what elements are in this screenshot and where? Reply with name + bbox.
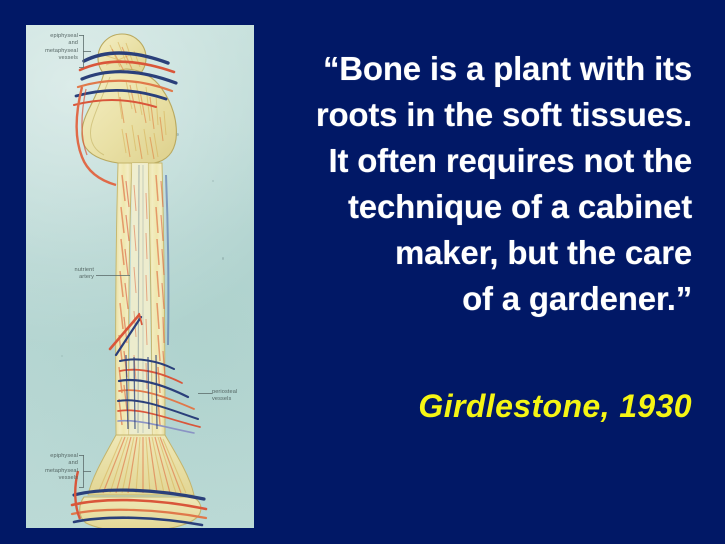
label-leader-periosteal-vessels: [198, 393, 212, 394]
periosteal-band: [166, 175, 168, 345]
label-bracket-bottom-arm: [79, 455, 84, 456]
label-bracket-bottom-arm: [79, 487, 84, 488]
label-nutrient-artery: nutrient artery: [50, 267, 94, 282]
quote-line: technique of a cabinet: [268, 184, 692, 230]
label-bracket-top-arm: [79, 35, 84, 36]
quote-attribution: Girdlestone, 1930: [268, 386, 692, 426]
bone-anatomy-figure: epiphyseal and metaphyseal vessels nutri…: [26, 25, 254, 528]
label-epiphyseal-metaphyseal-vessels-bottom: epiphyseal and metaphyseal vessels: [30, 453, 78, 483]
quote-line: of a gardener.”: [268, 276, 692, 322]
label-epiphyseal-metaphyseal-vessels-top: epiphyseal and metaphyseal vessels: [30, 33, 78, 63]
quote-line: roots in the soft tissues.: [268, 92, 692, 138]
quote-line: “Bone is a plant with its: [268, 46, 692, 92]
label-leader-top: [83, 51, 91, 52]
label-periosteal-vessels: periosteal vessels: [212, 389, 254, 404]
presentation-slide: epiphyseal and metaphyseal vessels nutri…: [0, 0, 725, 544]
label-leader-nutrient-artery: [96, 275, 130, 276]
label-leader-bottom: [83, 471, 91, 472]
quote-line: maker, but the care: [268, 230, 692, 276]
quote-line: It often requires not the: [268, 138, 692, 184]
label-bracket-top-arm: [79, 67, 84, 68]
quotation-text-block: “Bone is a plant with its roots in the s…: [268, 46, 692, 322]
